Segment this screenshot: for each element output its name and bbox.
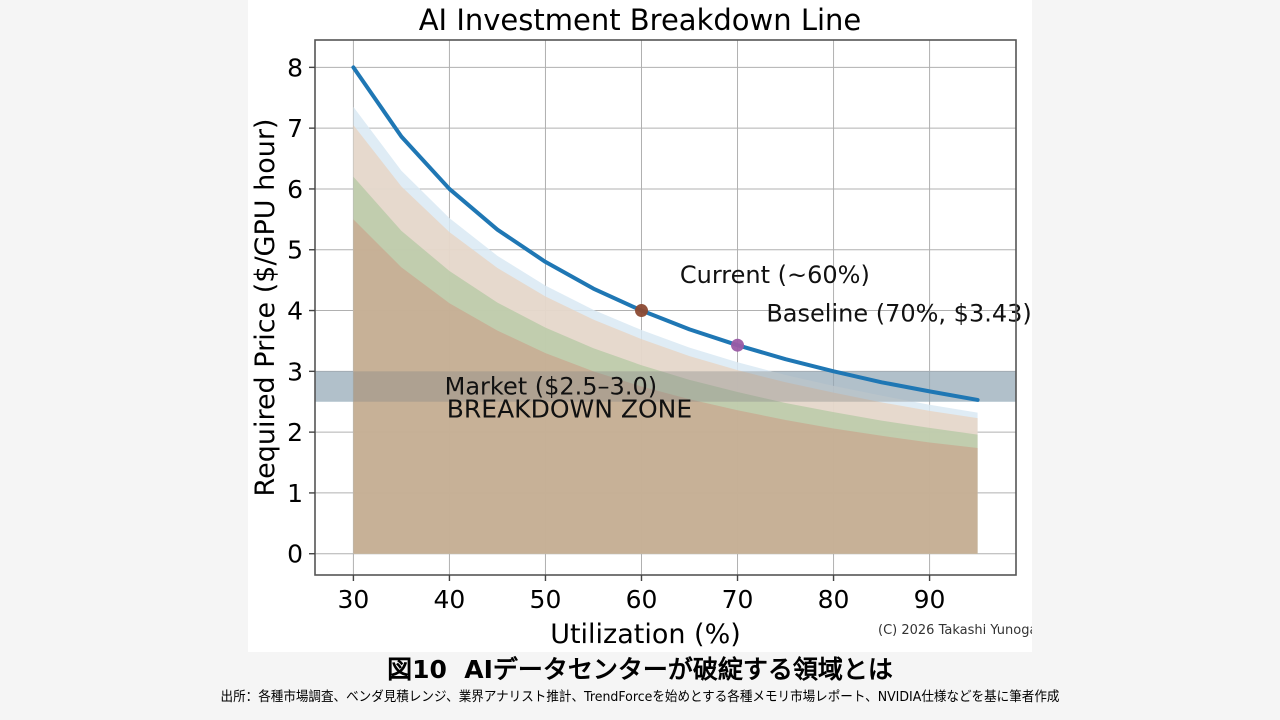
x-tick-label: 30 [338,585,370,614]
x-tick-label: 40 [434,585,466,614]
figure-source: 出所：各種市場調査、ベンダ見積レンジ、業界アナリスト推計、TrendForceを… [45,688,1235,706]
annotation-layer: Market ($2.5–3.0)BREAKDOWN ZONE [445,373,693,424]
breakdown-zone-label: BREAKDOWN ZONE [447,395,692,424]
y-tick-label: 0 [287,540,303,569]
x-tick-label: 50 [530,585,562,614]
y-tick-label: 2 [287,418,303,447]
y-tick-label: 1 [287,479,303,508]
y-tick-label: 4 [287,297,303,326]
plot-area: Current (~60%)Baseline (70%, $3.43) Mark… [315,40,1032,575]
baseline-point-label: Baseline (70%, $3.43) [766,299,1031,327]
copyright-credit: (C) 2026 Takashi Yunogami [878,623,1032,638]
figure-panel: AI Investment Breakdown Line Current (~6… [248,0,1032,652]
x-tick-label: 70 [722,585,754,614]
y-axis-title: Required Price ($/GPU hour) [250,119,281,497]
x-tick-label: 90 [914,585,946,614]
y-tick-label: 7 [287,114,303,143]
x-tick-label: 60 [626,585,658,614]
y-tick-label: 8 [287,53,303,82]
current-point-label: Current (~60%) [680,261,870,289]
figure-caption-block: 図10 AIデータセンターが破綻する領域とは 出所：各種市場調査、ベンダ見積レン… [0,652,1280,706]
figure-caption: 図10 AIデータセンターが破綻する領域とは [0,654,1280,686]
current-point [635,304,648,317]
x-axis-title: Utilization (%) [550,619,741,650]
baseline-point [731,339,744,352]
chart-title: AI Investment Breakdown Line [419,3,862,37]
ai-investment-breakdown-chart: AI Investment Breakdown Line Current (~6… [248,0,1032,652]
y-tick-label: 5 [287,236,303,265]
x-tick-label: 80 [818,585,850,614]
y-tick-label: 3 [287,357,303,386]
slide-canvas: AI Investment Breakdown Line Current (~6… [0,0,1280,720]
y-tick-label: 6 [287,175,303,204]
